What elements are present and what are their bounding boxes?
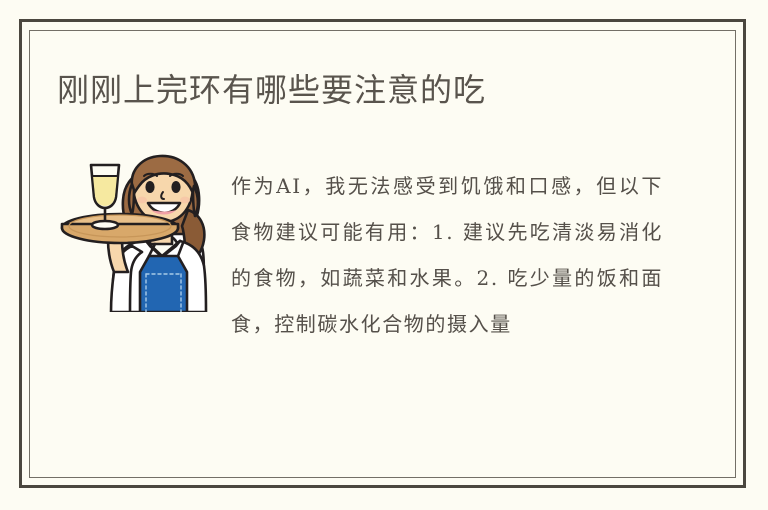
cheek-left [137, 197, 147, 204]
apron [140, 256, 187, 312]
eye-left [145, 181, 154, 193]
image-card: 刚刚上完环有哪些要注意的吃 [0, 0, 768, 510]
page-title: 刚刚上完环有哪些要注意的吃 [57, 68, 677, 112]
hair-lock-left [129, 184, 134, 214]
wine-glass-foot [92, 221, 118, 229]
waitress-with-tray-illustration [54, 140, 214, 312]
cheek-right [180, 197, 190, 204]
body-text: 作为AI，我无法感受到饥饿和口感，但以下食物建议可能有用：1. 建议先吃清淡易消… [231, 163, 663, 347]
eye-right [171, 181, 180, 193]
hair-lock-right [193, 186, 198, 216]
